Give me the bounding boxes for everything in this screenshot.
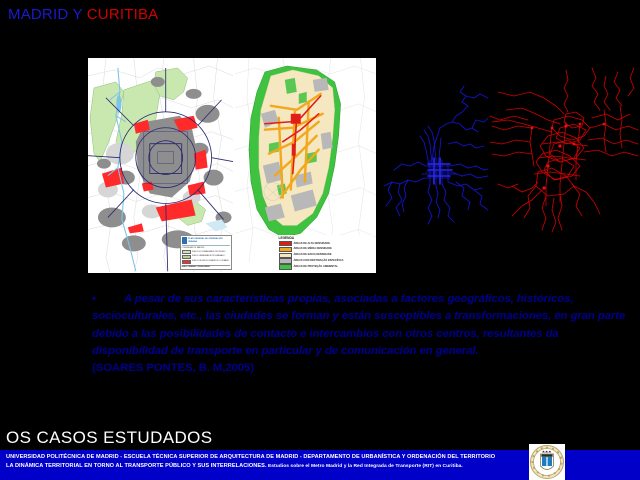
curitiba-legend-item: ÁREAS DE BAIXA DENSIDADE [279,253,371,258]
curitiba-legend-item: ÁREAS DE PROTEÇÃO AMBIENTAL [279,264,371,269]
legend-label-media-densidade: ÁREAS DE MÉDIA DENSIDADE [294,247,332,251]
body-citation: (SOARES PONTES, B. M,2005) [92,360,632,377]
rit-network-canvas [488,66,640,234]
footer-line-1: UNIVERSIDAD POLITÉCNICA DE MADRID - ESCU… [6,453,526,462]
curitiba-legend-item: ÁREAS DE ALTA DENSIDADE [279,241,371,246]
footer-text-block: UNIVERSIDAD POLITÉCNICA DE MADRID - ESCU… [6,453,526,471]
legend-swatch-programmed [182,255,191,259]
legend-label-alta-densidade: ÁREAS DE ALTA DENSIDADE [294,242,330,246]
legend-label-protecao-ambiental: ÁREAS DE PROTEÇÃO AMBIENTAL [294,265,339,269]
curitiba-legend-item: ÁREAS DE MÉDIA DENSIDADE [279,247,371,252]
madrid-legend-title: PLAN GENERAL DE ORDENACIÓN URBANA [188,238,230,243]
page-title-madrid: MADRID Y [8,6,87,23]
legend-label-baixa-densidade: ÁREAS DE BAIXA DENSIDADE [294,253,332,257]
legend-swatch-new-development [182,260,191,264]
bullet-icon: • [92,291,98,308]
upm-seal-icon [529,444,565,480]
curitiba-legend-title: LEGENDA [279,236,371,240]
legend-label-protected: SUELO NO URBANIZABLE PROTEGIDO [192,251,226,254]
legend-label-programmed: SUELO URBANIZABLE PROGRAMADO [192,255,225,258]
legend-label-new-development: SUELO DE NUEVO DESARROLLO URBANO [192,260,229,263]
legend-swatch-alta-densidade [279,241,292,246]
madrid-legend-header: PLAN GENERAL DE ORDENACIÓN URBANA [182,237,230,246]
curitiba-density-map: LEGENDA ÁREAS DE ALTA DENSIDADE ÁREAS DE… [235,58,377,273]
curitiba-map-legend: LEGENDA ÁREAS DE ALTA DENSIDADE ÁREAS DE… [277,235,373,271]
madrid-land-use-map: PLAN GENERAL DE ORDENACIÓN URBANA COMUNI… [88,58,235,273]
legend-swatch-protecao-ambiental [279,264,292,269]
comunidad-madrid-logo-icon [182,237,187,244]
maps-panel: PLAN GENERAL DE ORDENACIÓN URBANA COMUNI… [88,58,376,273]
page-title: MADRID Y CURITIBA [8,6,158,23]
madrid-legend-item: SUELO NO URBANIZABLE PROTEGIDO [182,250,230,254]
madrid-metro-network-diagram [378,78,504,226]
metro-network-canvas [378,78,504,226]
page-title-curitiba: CURITIBA [87,6,159,23]
legend-swatch-baixa-densidade [279,253,292,258]
madrid-legend-item: SUELO DE NUEVO DESARROLLO URBANO [182,260,230,264]
footer-line-2: LA DINÁMICA TERRITORIAL EN TORNO AL TRAN… [6,462,526,472]
footer-line-2-main: LA DINÁMICA TERRITORIAL EN TORNO AL TRAN… [6,463,267,469]
curitiba-center-high-density [290,114,300,124]
curitiba-rit-network-diagram [488,66,640,234]
madrid-map-legend: PLAN GENERAL DE ORDENACIÓN URBANA COMUNI… [180,235,232,270]
curitiba-corridor-block [291,144,295,156]
madrid-legend-footer: SUELO URBANO CONSOLIDADO [182,265,230,269]
body-paragraph: •A pesar de sus características propias,… [92,291,632,377]
body-paragraph-text: A pesar de sus características propias, … [92,293,625,357]
section-heading: OS CASOS ESTUDADOS [6,428,213,448]
legend-swatch-protected [182,250,191,254]
legend-label-destinacao-especifica: ÁREAS COM DESTINAÇÃO ESPECÍFICA [294,259,344,263]
curitiba-legend-item: ÁREAS COM DESTINAÇÃO ESPECÍFICA [279,258,371,263]
legend-swatch-media-densidade [279,247,292,252]
madrid-legend-item: SUELO URBANIZABLE PROGRAMADO [182,255,230,259]
legend-swatch-destinacao-especifica [279,258,292,263]
upm-seal-logo [529,444,565,480]
footer-line-2-small: Estudios sobre el Metro Madrid y la Red … [267,464,463,469]
